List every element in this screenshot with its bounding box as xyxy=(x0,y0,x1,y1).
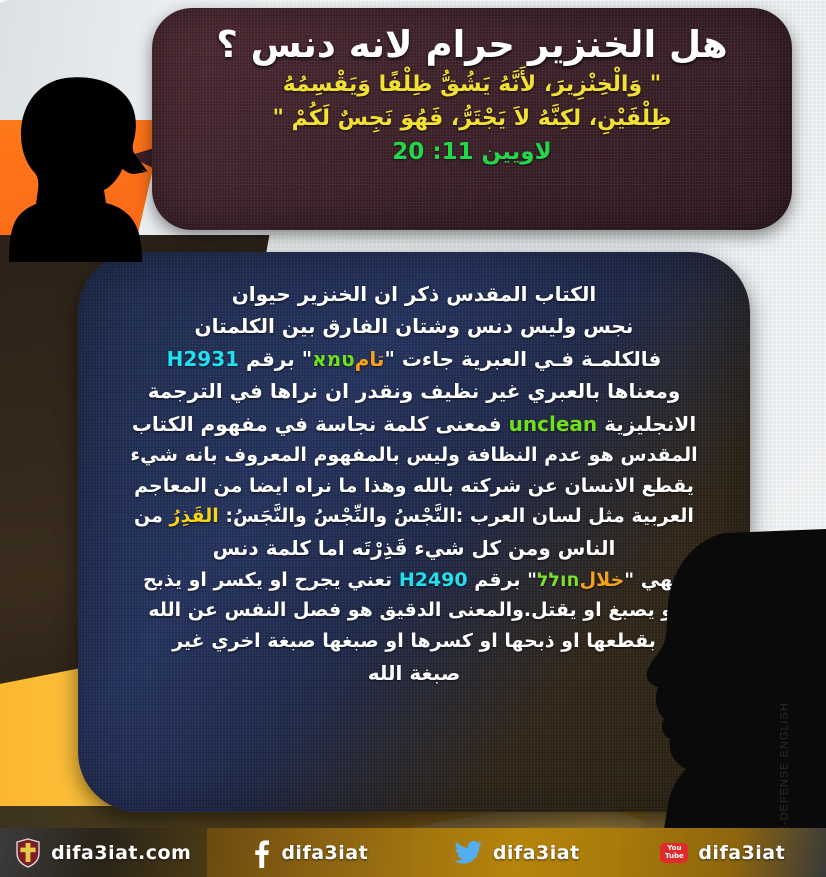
footer-label-website: difa3iat.com xyxy=(51,842,191,864)
body-line-5: الانجليزية unclean فمعنى كلمة نجاسة في م… xyxy=(104,408,724,440)
body-line-8-part-a: العربية مثل لسان العرب :النَّجْسُ والنِّ… xyxy=(219,505,694,527)
verse-line-1: " وَالْخِنْزِيرَ، لأَنَّهُ يَشُقُّ ظِلْف… xyxy=(178,68,766,102)
body-line-8: العربية مثل لسان العرب :النَّجْسُ والنِّ… xyxy=(104,501,724,532)
verse-line-2: ظِلْفَيْنِ، لكِنَّهُ لاَ يَجْتَرُّ، فَهُ… xyxy=(178,102,766,136)
body-line-2: نجس وليس دنس وشتان الفارق بين الكلمتان xyxy=(104,310,724,342)
body-line-3: فالكلمـة فـي العبرية جاءت "تامטמא" برقم … xyxy=(104,343,724,375)
body-line-10-part-b: " برقم xyxy=(468,569,537,591)
body-line-7: يقطع الانسان عن شركته بالله وهذا ما نراه… xyxy=(104,471,724,502)
body-line-10-part-c: تعني يجرح او يكسر او يذبح xyxy=(143,569,399,591)
footer-item-website[interactable]: difa3iat.com xyxy=(0,828,207,877)
body-line-5-part-a: الانجليزية xyxy=(597,412,696,436)
page-title: هل الخنزير حرام لانه دنس ؟ xyxy=(178,22,766,68)
speaker-silhouette-icon xyxy=(8,72,178,262)
youtube-badge: You Tube xyxy=(660,843,688,863)
infographic-canvas: HE-DEFENSE ENGLISH هل الخنزير حرام لانه … xyxy=(0,0,826,877)
bearded-man-silhouette-icon xyxy=(616,529,826,829)
body-line-5-part-b: فمعنى كلمة نجاسة في مفهوم الكتاب xyxy=(132,412,509,436)
facebook-icon xyxy=(251,838,271,868)
body-line-4: ومعناها بالعبري غير نظيف ونقدر ان نراها … xyxy=(104,375,724,407)
footer-label-twitter: difa3iat xyxy=(493,842,580,864)
hebrew-word-chalal: חולל xyxy=(537,569,580,591)
body-line-3-part-b: " برقم xyxy=(239,347,312,371)
body-line-1: الكتاب المقدس ذكر ان الخنزير حيوان xyxy=(104,278,724,310)
footer-item-facebook[interactable]: difa3iat xyxy=(207,828,414,877)
youtube-icon: You Tube xyxy=(660,843,688,863)
strongs-number-h2490: H2490 xyxy=(399,569,468,591)
english-word-unclean: unclean xyxy=(509,412,598,436)
verse-reference: لاويين 11: 20 xyxy=(178,139,766,165)
arabic-word-alqathir: القَذِرُ xyxy=(170,505,219,527)
footer-item-youtube[interactable]: You Tube difa3iat xyxy=(620,828,826,877)
footer-label-youtube: difa3iat xyxy=(698,842,785,864)
arabic-transliteration-tam: تام xyxy=(355,347,385,371)
strongs-number-h2931: H2931 xyxy=(167,347,239,371)
body-line-6: المقدس هو عدم النظافة وليس بالمفهوم المع… xyxy=(104,440,724,471)
hebrew-word-tame: טמא xyxy=(312,347,355,371)
footer-label-facebook: difa3iat xyxy=(281,842,368,864)
shield-cross-icon xyxy=(15,838,41,868)
question-bubble: هل الخنزير حرام لانه دنس ؟ " وَالْخِنْزِ… xyxy=(152,8,792,230)
footer-bar: difa3iat.com difa3iat difa3iat You xyxy=(0,828,826,877)
twitter-icon xyxy=(453,840,483,866)
footer-item-twitter[interactable]: difa3iat xyxy=(413,828,620,877)
body-line-8-part-b: من xyxy=(134,505,169,527)
youtube-badge-bottom: Tube xyxy=(665,853,684,860)
body-line-3-part-a: فالكلمـة فـي العبرية جاءت " xyxy=(384,347,661,371)
